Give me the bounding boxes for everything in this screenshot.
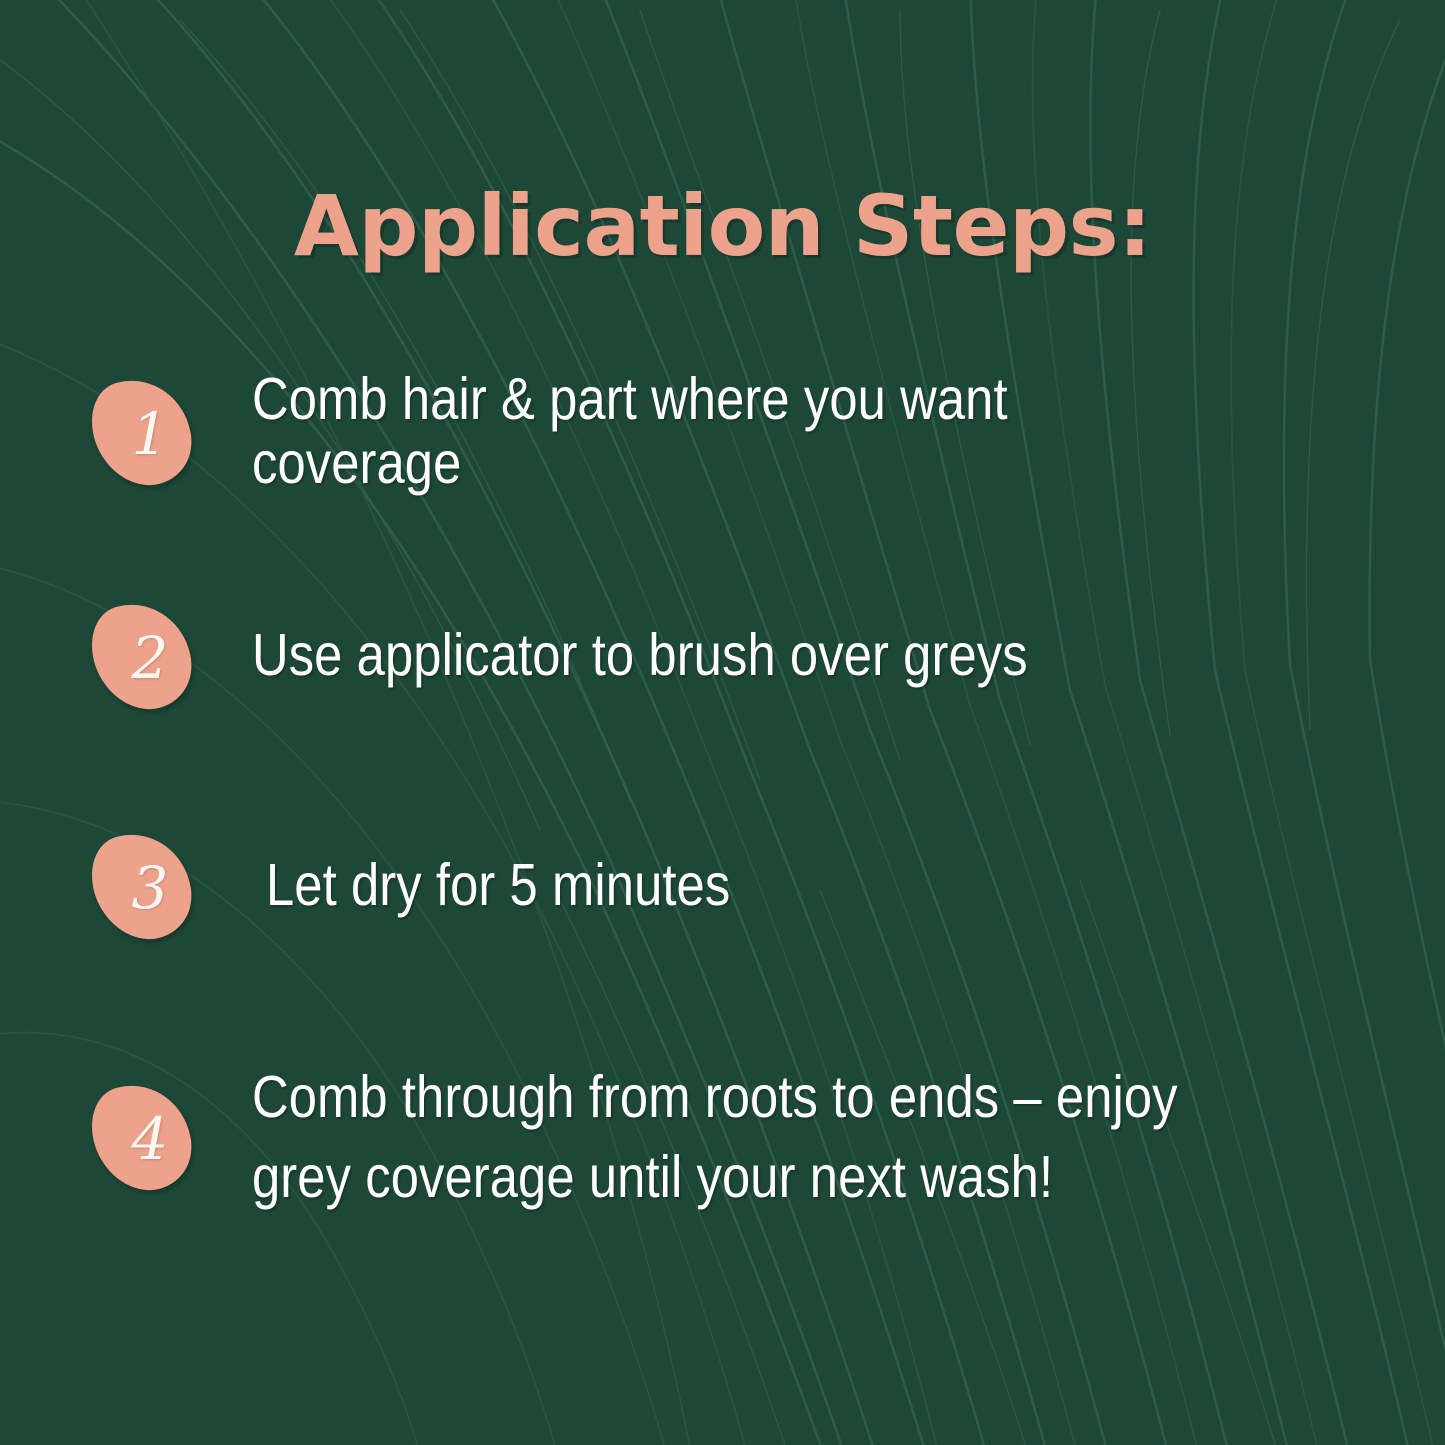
list-item-step-4: 4 Comb through from roots to ends – enjo… [90, 1057, 1380, 1217]
step-number-label: 2 [90, 601, 196, 711]
step-number-badge: 2 [90, 601, 196, 711]
step-description: Use applicator to brush over greys [252, 624, 1222, 688]
step-number-badge: 3 [90, 831, 196, 941]
step-description: Comb through from roots to ends – enjoy … [252, 1057, 1222, 1217]
list-item-step-1: 1 Comb hair & part where you want covera… [90, 368, 1380, 495]
step-number-label: 1 [90, 377, 196, 487]
step-number-label: 4 [90, 1082, 196, 1192]
list-item-step-2: 2 Use applicator to brush over greys [90, 601, 1380, 711]
step-number-badge: 4 [90, 1082, 196, 1192]
step-description: Comb hair & part where you want coverage [252, 368, 1222, 495]
page-title-container: Application Steps: [0, 128, 1445, 325]
step-number-badge: 1 [90, 377, 196, 487]
application-steps-graphic: Application Steps: 1 Comb hair & part wh… [0, 0, 1445, 1445]
step-description: Let dry for 5 minutes [266, 854, 1224, 918]
step-number-label: 3 [90, 831, 196, 941]
list-item-step-3: 3 Let dry for 5 minutes [90, 831, 1380, 941]
page-title: Application Steps: [294, 184, 1151, 268]
